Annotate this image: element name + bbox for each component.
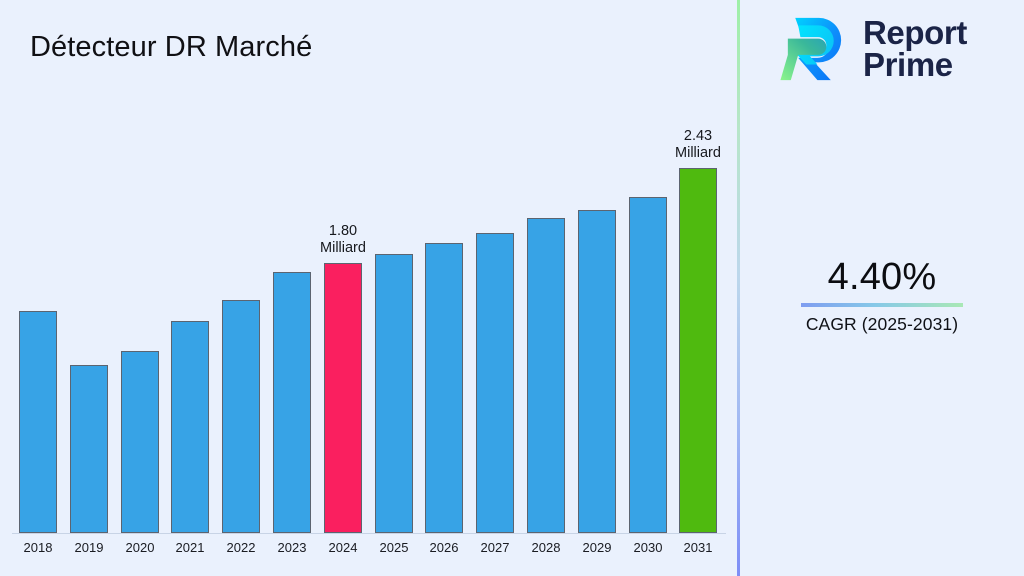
bar-2018 [19, 311, 57, 533]
bar-value-number-2024: 1.80 [302, 223, 384, 240]
page-title: Détecteur DR Marché [30, 31, 312, 64]
bar-group-2024: 1.80Milliard [324, 263, 362, 533]
bar-chart-plot-area: 1.80Milliard2.43Milliard [0, 120, 738, 534]
bar-2029 [578, 210, 616, 533]
bar-group-2029 [578, 210, 616, 533]
x-axis-tick-labels: 2018201920202021202220232024202520262027… [0, 536, 738, 566]
chart-panel: Détecteur DR Marché 1.80Milliard2.43Mill… [0, 0, 738, 576]
bar-2019 [70, 365, 108, 533]
bar-value-label-2031: 2.43Milliard [657, 128, 739, 162]
bar-group-2019 [70, 365, 108, 533]
bar-2028 [527, 218, 565, 533]
bar-value-number-2031: 2.43 [657, 128, 739, 145]
brand-logo: Report Prime [776, 12, 967, 86]
bar-2022 [222, 300, 260, 533]
bar-2020 [121, 351, 159, 533]
bar-value-label-2024: 1.80Milliard [302, 223, 384, 257]
bar-group-2021 [171, 321, 209, 533]
cagr-value: 4.40% [740, 255, 1024, 299]
bar-2021 [171, 321, 209, 533]
bar-value-unit-2031: Milliard [657, 145, 739, 162]
bar-group-2026 [425, 243, 463, 533]
bar-2026 [425, 243, 463, 533]
cagr-divider-rule [801, 303, 963, 307]
bar-group-2028 [527, 218, 565, 533]
x-axis-baseline [12, 533, 726, 534]
cagr-caption: CAGR (2025-2031) [740, 314, 1024, 335]
bar-group-2027 [476, 233, 514, 533]
bar-2024 [324, 263, 362, 533]
bar-2023 [273, 272, 311, 533]
bar-group-2031: 2.43Milliard [679, 168, 717, 533]
bar-group-2023 [273, 272, 311, 533]
x-tick-2031: 2031 [668, 540, 728, 555]
bar-group-2030 [629, 197, 667, 533]
bar-value-unit-2024: Milliard [302, 240, 384, 257]
brand-panel: Report Prime 4.40% CAGR (2025-2031) [740, 0, 1024, 576]
report-prime-logo-icon [776, 12, 850, 86]
bar-group-2022 [222, 300, 260, 533]
bar-2030 [629, 197, 667, 533]
brand-wordmark: Report Prime [863, 17, 967, 82]
bar-2025 [375, 254, 413, 533]
bar-group-2018 [19, 311, 57, 533]
bar-2027 [476, 233, 514, 533]
bar-group-2020 [121, 351, 159, 533]
bar-2031 [679, 168, 717, 533]
bar-group-2025 [375, 254, 413, 533]
brand-name-line-2: Prime [863, 49, 967, 81]
screenshot-root: Détecteur DR Marché 1.80Milliard2.43Mill… [0, 0, 1024, 576]
cagr-block: 4.40% CAGR (2025-2031) [740, 255, 1024, 335]
